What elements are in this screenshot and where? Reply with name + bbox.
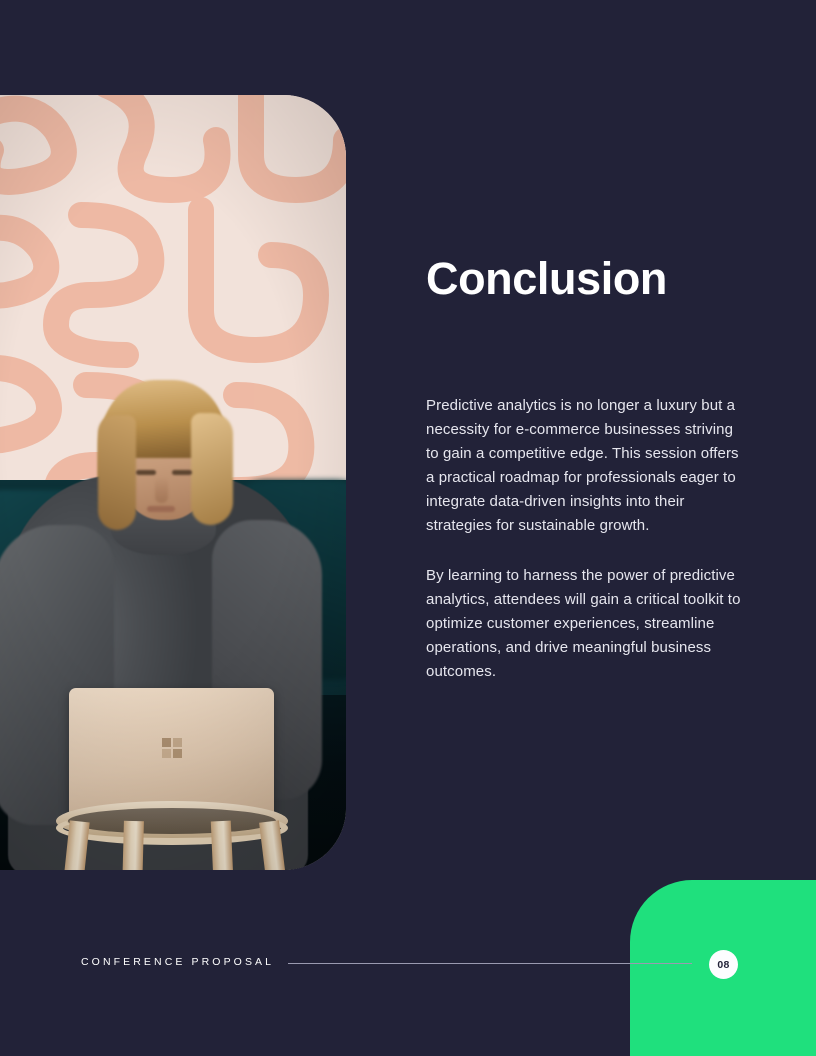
microsoft-logo-icon <box>162 738 182 758</box>
body-copy: Predictive analytics is no longer a luxu… <box>426 394 746 684</box>
footer: CONFERENCE PROPOSAL 08 <box>0 952 816 978</box>
content-column: Conclusion Predictive analytics is no lo… <box>426 255 746 684</box>
eye-right <box>172 470 192 475</box>
hair-side-right <box>191 413 233 525</box>
page-number-badge: 08 <box>709 950 738 979</box>
stool-rim <box>56 811 288 845</box>
footer-label: CONFERENCE PROPOSAL <box>81 956 274 968</box>
paragraph-1: Predictive analytics is no longer a luxu… <box>426 394 746 538</box>
page-title: Conclusion <box>426 255 746 302</box>
eye-left <box>136 470 156 475</box>
stool-leg <box>120 821 144 870</box>
slide-page: Conclusion Predictive analytics is no lo… <box>0 0 816 1056</box>
laptop <box>69 688 274 818</box>
nose <box>155 477 168 503</box>
mouth <box>147 506 175 512</box>
photo-panel <box>0 95 346 870</box>
footer-divider <box>288 963 692 964</box>
hair-side-left <box>98 415 136 530</box>
paragraph-2: By learning to harness the power of pred… <box>426 564 746 684</box>
